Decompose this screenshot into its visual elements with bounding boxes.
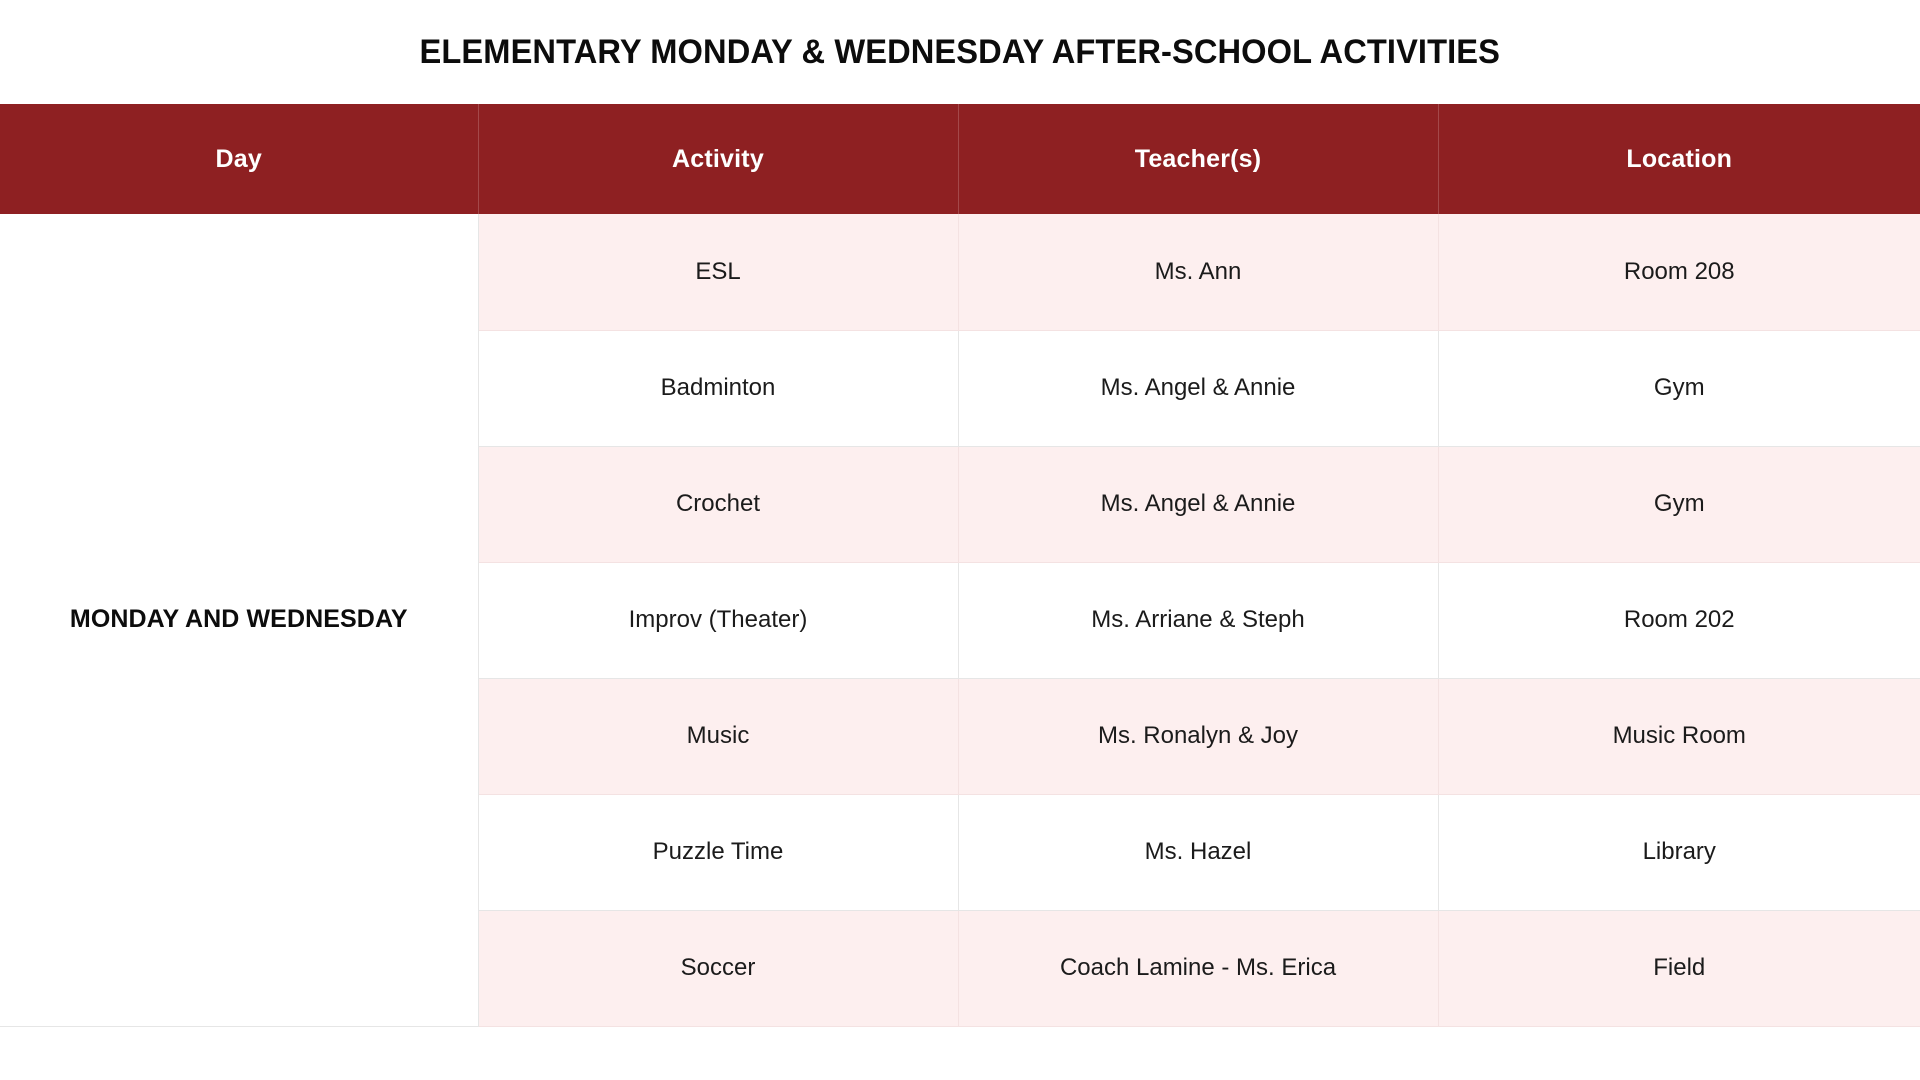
cell-activity: Puzzle Time [478, 794, 958, 910]
table-header-row: Day Activity Teacher(s) Location [0, 104, 1920, 214]
column-header-location[interactable]: Location [1438, 104, 1920, 214]
table-row: MONDAY AND WEDNESDAYESLMs. AnnRoom 208 [0, 214, 1920, 330]
column-header-activity[interactable]: Activity [478, 104, 958, 214]
cell-teacher: Ms. Ronalyn & Joy [958, 678, 1438, 794]
cell-activity: Crochet [478, 446, 958, 562]
cell-activity: Improv (Theater) [478, 562, 958, 678]
cell-location: Room 208 [1438, 214, 1920, 330]
cell-teacher: Ms. Arriane & Steph [958, 562, 1438, 678]
schedule-page: ELEMENTARY MONDAY & WEDNESDAY AFTER-SCHO… [0, 0, 1920, 1080]
cell-location: Gym [1438, 446, 1920, 562]
cell-teacher: Ms. Angel & Annie [958, 446, 1438, 562]
cell-activity: Soccer [478, 910, 958, 1026]
cell-teacher: Ms. Ann [958, 214, 1438, 330]
table-body: MONDAY AND WEDNESDAYESLMs. AnnRoom 208Ba… [0, 214, 1920, 1026]
cell-location: Library [1438, 794, 1920, 910]
cell-activity: ESL [478, 214, 958, 330]
cell-activity: Badminton [478, 330, 958, 446]
title-container: ELEMENTARY MONDAY & WEDNESDAY AFTER-SCHO… [0, 0, 1920, 104]
schedule-table: Day Activity Teacher(s) Location MONDAY … [0, 104, 1920, 1027]
cell-location: Field [1438, 910, 1920, 1026]
day-group-cell: MONDAY AND WEDNESDAY [0, 214, 478, 1026]
table-header: Day Activity Teacher(s) Location [0, 104, 1920, 214]
page-title: ELEMENTARY MONDAY & WEDNESDAY AFTER-SCHO… [420, 33, 1501, 72]
cell-location: Room 202 [1438, 562, 1920, 678]
schedule-table-container: Day Activity Teacher(s) Location MONDAY … [0, 104, 1920, 1080]
cell-teacher: Ms. Hazel [958, 794, 1438, 910]
cell-location: Music Room [1438, 678, 1920, 794]
column-header-teacher[interactable]: Teacher(s) [958, 104, 1438, 214]
column-header-day[interactable]: Day [0, 104, 478, 214]
cell-teacher: Coach Lamine - Ms. Erica [958, 910, 1438, 1026]
cell-activity: Music [478, 678, 958, 794]
cell-teacher: Ms. Angel & Annie [958, 330, 1438, 446]
cell-location: Gym [1438, 330, 1920, 446]
